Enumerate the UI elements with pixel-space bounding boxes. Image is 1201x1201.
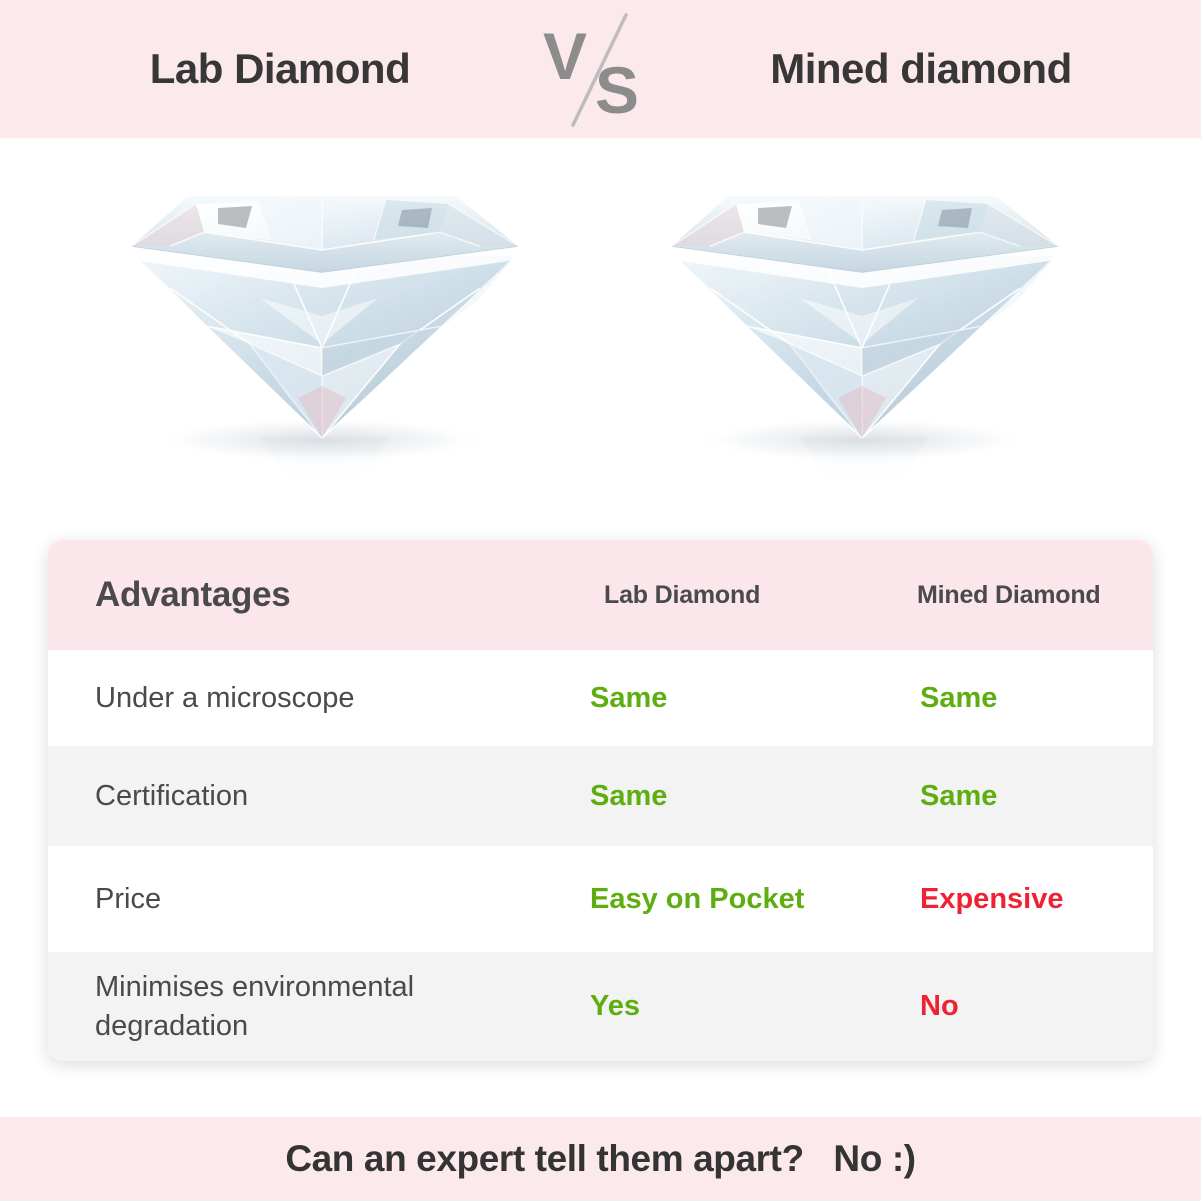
table-row: Price Easy on Pocket Expensive [48,846,1153,952]
table-row: Minimises environmental degradation Yes … [48,952,1153,1061]
column-header-lab-diamond: Lab Diamond [542,581,872,610]
mined-value: No [872,990,1153,1023]
mined-diamond-image [650,148,1080,518]
comparison-table: Advantages Lab Diamond Mined Diamond Und… [48,540,1153,1061]
mined-value: Same [872,780,1153,813]
infographic-page: Lab Diamond V S Mined diamond [0,0,1201,1201]
comparison-table-card: Advantages Lab Diamond Mined Diamond Und… [48,540,1153,1061]
lab-value: Same [542,682,872,715]
mined-value: Expensive [872,883,1153,916]
column-header-advantages: Advantages [48,575,542,615]
footer-question-text: Can an expert tell them apart? No :) [285,1138,915,1180]
feature-label: Price [48,880,542,918]
lab-diamond-image [110,148,540,518]
lab-value: Yes [542,990,872,1023]
lab-value: Easy on Pocket [542,883,872,916]
lab-value: Same [542,780,872,813]
top-header-inner: Lab Diamond V S Mined diamond [0,0,1201,138]
table-row: Certification Same Same [48,746,1153,846]
table-header-row: Advantages Lab Diamond Mined Diamond [48,540,1153,650]
bottom-footer-banner: Can an expert tell them apart? No :) [0,1117,1201,1201]
feature-label: Certification [48,777,542,815]
diamond-illustration-area [0,138,1201,528]
feature-label: Minimises environmental degradation [48,968,542,1045]
svg-text:V: V [542,19,586,93]
table-row: Under a microscope Same Same [48,650,1153,746]
mined-diamond-title: Mined diamond [641,45,1201,93]
top-header-banner: Lab Diamond V S Mined diamond [0,0,1201,138]
lab-diamond-title: Lab Diamond [0,45,560,93]
feature-label: Under a microscope [48,679,542,717]
column-header-mined-diamond: Mined Diamond [872,581,1153,610]
mined-value: Same [872,682,1153,715]
